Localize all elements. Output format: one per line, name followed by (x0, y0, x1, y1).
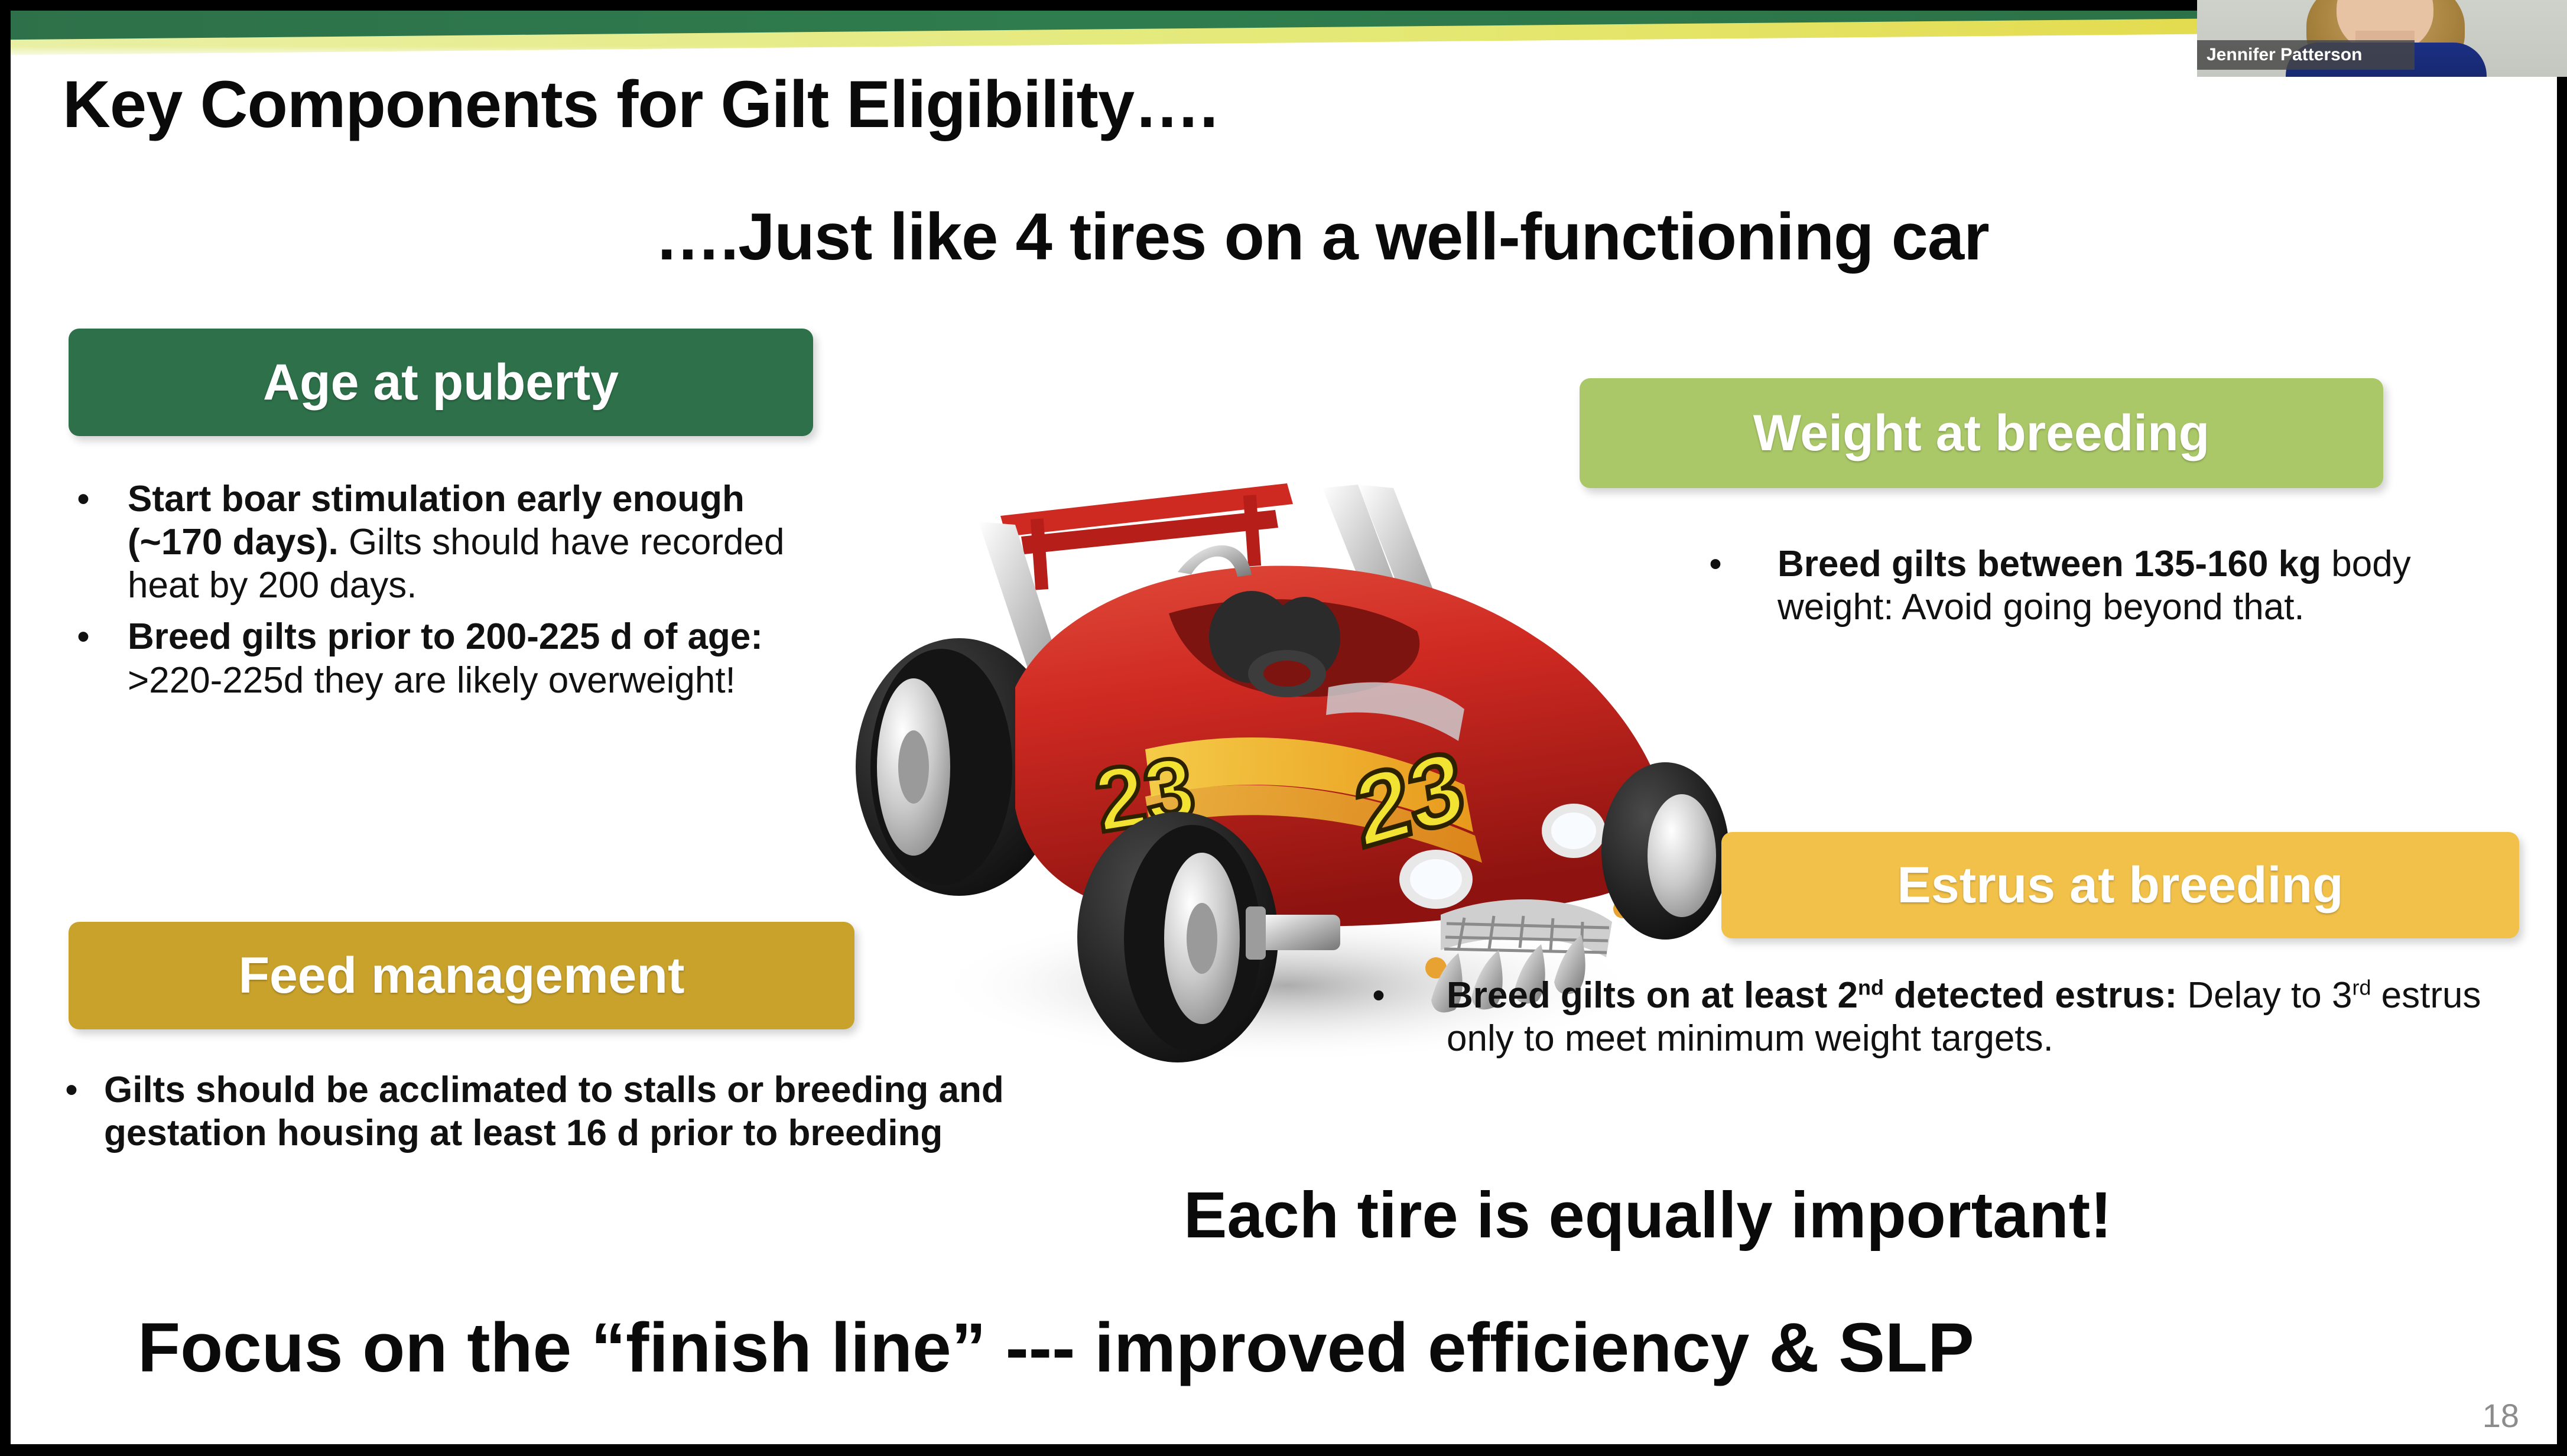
bullet-text-bold-post: detected estrus: (1884, 975, 2177, 1016)
bullet-text-bold: Gilts should be acclimated to stalls or … (104, 1070, 1004, 1153)
participant-name-label: Jennifer Patterson (2197, 45, 2362, 65)
list-item: • Start boar stimulation early enough (~… (39, 477, 854, 607)
participant-name-bar: Jennifer Patterson (2197, 40, 2415, 70)
bullet-text-bold-pre: Breed gilts on at least 2 (1447, 975, 1858, 1016)
bullet-text-bold-superscript: nd (1858, 975, 1884, 999)
slide-title-line-2: ….Just like 4 tires on a well-functionin… (655, 199, 1989, 275)
section-header-feed-management: Feed management (69, 922, 854, 1029)
bullet-text: Breed gilts prior to 200-225 d of age: >… (128, 615, 831, 701)
list-item: • Breed gilts prior to 200-225 d of age:… (39, 615, 854, 701)
list-item: • Breed gilts on at least 2nd detected e… (1311, 974, 2552, 1060)
top-banner (11, 11, 2557, 57)
bullet-list-weight-at-breeding: • Breed gilts between 135-160 kg body we… (1653, 542, 2540, 637)
bullet-list-age-at-puberty: • Start boar stimulation early enough (~… (39, 477, 854, 710)
presentation-slide: Key Components for Gilt Eligibility…. ….… (11, 11, 2557, 1444)
bullet-marker: • (1311, 974, 1447, 1060)
bullet-marker: • (39, 477, 128, 607)
bullet-marker: • (39, 615, 128, 701)
webcam-participant-tile[interactable]: Jennifer Patterson (2197, 0, 2567, 77)
bullet-marker: • (39, 1068, 104, 1155)
bullet-text: Gilts should be acclimated to stalls or … (104, 1068, 1085, 1155)
bullet-marker: • (1653, 542, 1778, 629)
bullet-list-feed-management: • Gilts should be acclimated to stalls o… (39, 1068, 1103, 1163)
bullet-text: Start boar stimulation early enough (~17… (128, 477, 831, 607)
slide-title-line-1: Key Components for Gilt Eligibility…. (63, 66, 1217, 142)
bullet-list-estrus-at-breeding: • Breed gilts on at least 2nd detected e… (1311, 974, 2552, 1068)
page-number: 18 (2482, 1396, 2519, 1435)
bullet-text-regular-superscript: rd (2352, 975, 2371, 999)
bullet-text-regular-pre: Delay to 3 (2177, 975, 2352, 1016)
bullet-text: Breed gilts between 135-160 kg body weig… (1778, 542, 2516, 629)
bullet-text-regular: >220-225d they are likely overweight! (128, 660, 736, 701)
bullet-text: Breed gilts on at least 2nd detected est… (1447, 974, 2534, 1060)
section-header-weight-at-breeding: Weight at breeding (1580, 378, 2383, 488)
closing-line-focus-finish: Focus on the “finish line” --- improved … (138, 1308, 1974, 1388)
closing-line-each-tire: Each tire is equally important! (1184, 1178, 2112, 1253)
bullet-text-bold: Breed gilts prior to 200-225 d of age: (128, 616, 763, 657)
section-header-estrus-at-breeding: Estrus at breeding (1721, 832, 2519, 938)
front-right-tire (1601, 762, 1729, 940)
banner-fade (11, 46, 2557, 57)
bullet-text-bold: Breed gilts between 135-160 kg (1778, 544, 2321, 584)
list-item: • Gilts should be acclimated to stalls o… (39, 1068, 1103, 1155)
list-item: • Breed gilts between 135-160 kg body we… (1653, 542, 2540, 629)
section-header-age-at-puberty: Age at puberty (69, 329, 813, 436)
